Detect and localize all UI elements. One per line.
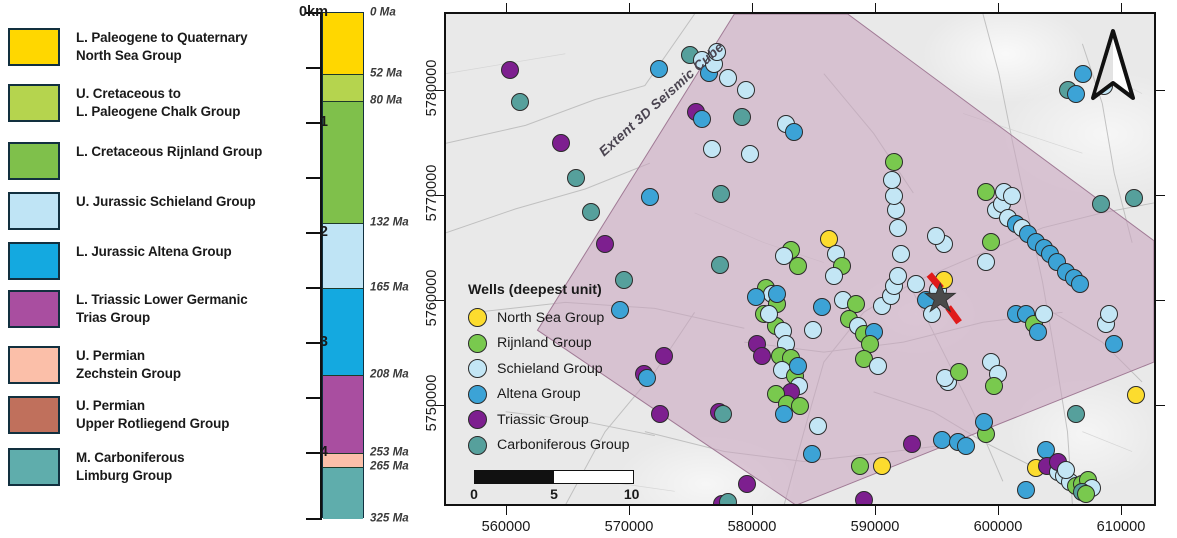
strat-legend-swatch xyxy=(8,346,60,384)
strat-legend-label: U. Permian Zechstein Group xyxy=(76,346,181,383)
y-axis-tick-right xyxy=(1156,195,1165,196)
depth-tick xyxy=(306,518,322,520)
strat-age-label: 253 Ma xyxy=(370,446,409,459)
strat-legend-swatch xyxy=(8,448,60,486)
x-axis-tick xyxy=(629,506,630,515)
scale-bar-tick-label: 0 xyxy=(470,486,478,502)
x-axis-tick xyxy=(998,506,999,515)
depth-axis-label: 0km xyxy=(299,4,328,20)
x-axis-tick-top xyxy=(629,3,630,12)
x-axis-tick xyxy=(875,506,876,515)
y-axis-label: 5780000 xyxy=(424,46,440,130)
strat-column-unit xyxy=(323,223,363,288)
strat-column-boundary xyxy=(323,223,363,224)
wells-legend-row: North Sea Group xyxy=(468,305,630,331)
strat-legend-swatch xyxy=(8,192,60,230)
strat-legend-label: L. Triassic Lower Germanic Trias Group xyxy=(76,290,248,327)
strat-column-unit xyxy=(323,101,363,223)
strat-legend-row: L. Cretaceous Rijnland Group xyxy=(8,142,262,180)
wells-legend-label: North Sea Group xyxy=(497,310,604,326)
strat-legend-row: L. Paleogene to Quaternary North Sea Gro… xyxy=(8,28,248,66)
strat-column-unit xyxy=(323,453,363,467)
scale-bar: 0510 km xyxy=(474,470,634,506)
wells-legend-label: Triassic Group xyxy=(497,412,589,428)
y-axis-label: 5770000 xyxy=(424,151,440,235)
north-arrow-icon xyxy=(1090,28,1136,102)
scale-bar-tick-label: 10 km xyxy=(624,486,644,506)
wells-legend-marker-icon xyxy=(468,385,487,404)
y-axis-tick-right xyxy=(1156,300,1165,301)
strat-column-unit xyxy=(323,13,363,74)
strat-legend-swatch xyxy=(8,28,60,66)
strat-legend-label: U. Cretaceous to L. Paleogene Chalk Grou… xyxy=(76,84,240,121)
depth-tick xyxy=(306,287,322,289)
x-axis-tick xyxy=(506,506,507,515)
wells-legend: Wells (deepest unit) North Sea GroupRijn… xyxy=(468,282,630,458)
strat-age-label: 132 Ma xyxy=(370,216,409,229)
depth-axis-label: 4 xyxy=(320,444,328,460)
stratigraphic-column: 0 Ma52 Ma80 Ma132 Ma165 Ma208 Ma253 Ma26… xyxy=(276,0,436,538)
map-frame: Extent 3D Seismic Cube Wells (deepest un… xyxy=(444,12,1156,506)
strat-legend-row: U. Cretaceous to L. Paleogene Chalk Grou… xyxy=(8,84,240,122)
strat-legend-row: L. Triassic Lower Germanic Trias Group xyxy=(8,290,248,328)
strat-age-label: 325 Ma xyxy=(370,512,409,525)
scale-bar-bars xyxy=(474,470,634,484)
wells-legend-row: Schieland Group xyxy=(468,356,630,382)
strat-age-label: 165 Ma xyxy=(370,281,409,294)
strat-column-unit xyxy=(323,467,363,519)
x-axis-tick-top xyxy=(998,3,999,12)
strat-legend-label: U. Permian Upper Rotliegend Group xyxy=(76,396,229,433)
x-axis-label: 610000 xyxy=(1097,519,1146,535)
wells-legend-row: Triassic Group xyxy=(468,407,630,433)
wells-legend-marker-icon xyxy=(468,308,487,327)
wells-legend-row: Altena Group xyxy=(468,382,630,408)
strat-column-boundary xyxy=(323,288,363,289)
scale-bar-tick-label: 5 xyxy=(550,486,558,502)
strat-legend-row: U. Jurassic Schieland Group xyxy=(8,192,256,230)
wells-legend-marker-icon xyxy=(468,410,487,429)
x-axis-label: 570000 xyxy=(605,519,654,535)
strat-legend-label: M. Carboniferous Limburg Group xyxy=(76,448,185,485)
wells-legend-label: Altena Group xyxy=(497,386,581,402)
strat-age-label: 52 Ma xyxy=(370,67,402,80)
strat-legend-label: L. Jurassic Altena Group xyxy=(76,242,232,261)
strat-legend-swatch xyxy=(8,142,60,180)
depth-axis-label: 1 xyxy=(320,114,328,130)
depth-tick xyxy=(306,177,322,179)
strat-legend-swatch xyxy=(8,242,60,280)
x-axis-tick xyxy=(752,506,753,515)
strat-column-boundary xyxy=(323,74,363,75)
strat-legend-swatch xyxy=(8,84,60,122)
stratigraphic-column-bar xyxy=(322,12,364,518)
strat-column-boundary xyxy=(323,101,363,102)
depth-tick xyxy=(306,397,322,399)
stratigraphic-legend: L. Paleogene to Quaternary North Sea Gro… xyxy=(8,14,276,514)
strat-legend-swatch xyxy=(8,396,60,434)
strat-legend-label: L. Paleogene to Quaternary North Sea Gro… xyxy=(76,28,248,65)
strat-column-unit xyxy=(323,288,363,375)
strat-legend-label: U. Jurassic Schieland Group xyxy=(76,192,256,211)
x-axis-tick-top xyxy=(506,3,507,12)
depth-axis-label: 2 xyxy=(320,224,328,240)
wells-legend-marker-icon xyxy=(468,334,487,353)
x-axis-tick-top xyxy=(875,3,876,12)
depth-axis-label: 3 xyxy=(320,334,328,350)
strat-column-boundary xyxy=(323,467,363,468)
x-axis-label: 590000 xyxy=(851,519,900,535)
strat-age-label: 208 Ma xyxy=(370,368,409,381)
strat-age-label: 0 Ma xyxy=(370,6,396,19)
wells-legend-label: Rijnland Group xyxy=(497,335,592,351)
strat-legend-row: U. Permian Upper Rotliegend Group xyxy=(8,396,229,434)
wells-legend-row: Carboniferous Group xyxy=(468,433,630,459)
y-axis-label: 5760000 xyxy=(424,256,440,340)
x-axis-label: 600000 xyxy=(974,519,1023,535)
x-axis-label: 580000 xyxy=(728,519,777,535)
strat-legend-label: L. Cretaceous Rijnland Group xyxy=(76,142,262,161)
wells-legend-marker-icon xyxy=(468,359,487,378)
scale-bar-labels: 0510 km xyxy=(474,486,634,506)
strat-column-boundary xyxy=(323,375,363,376)
y-axis-label: 5750000 xyxy=(424,361,440,445)
strat-age-label: 265 Ma xyxy=(370,460,409,473)
strat-age-label: 80 Ma xyxy=(370,94,402,107)
wells-legend-row: Rijnland Group xyxy=(468,331,630,357)
x-axis-tick-top xyxy=(752,3,753,12)
strat-column-unit xyxy=(323,74,363,101)
x-axis-tick xyxy=(1121,506,1122,515)
wells-legend-title: Wells (deepest unit) xyxy=(468,282,630,298)
depth-tick xyxy=(306,67,322,69)
wells-legend-label: Schieland Group xyxy=(497,361,603,377)
strat-legend-row: L. Jurassic Altena Group xyxy=(8,242,232,280)
strat-legend-row: M. Carboniferous Limburg Group xyxy=(8,448,185,486)
strat-legend-row: U. Permian Zechstein Group xyxy=(8,346,181,384)
strat-column-boundary xyxy=(323,453,363,454)
strat-legend-swatch xyxy=(8,290,60,328)
wells-legend-label: Carboniferous Group xyxy=(497,437,630,453)
strat-column-unit xyxy=(323,375,363,453)
map-panel: Extent 3D Seismic Cube Wells (deepest un… xyxy=(440,8,1168,538)
y-axis-tick-right xyxy=(1156,405,1165,406)
y-axis-tick-right xyxy=(1156,90,1165,91)
wells-legend-marker-icon xyxy=(468,436,487,455)
x-axis-tick-top xyxy=(1121,3,1122,12)
x-axis-label: 560000 xyxy=(482,519,531,535)
